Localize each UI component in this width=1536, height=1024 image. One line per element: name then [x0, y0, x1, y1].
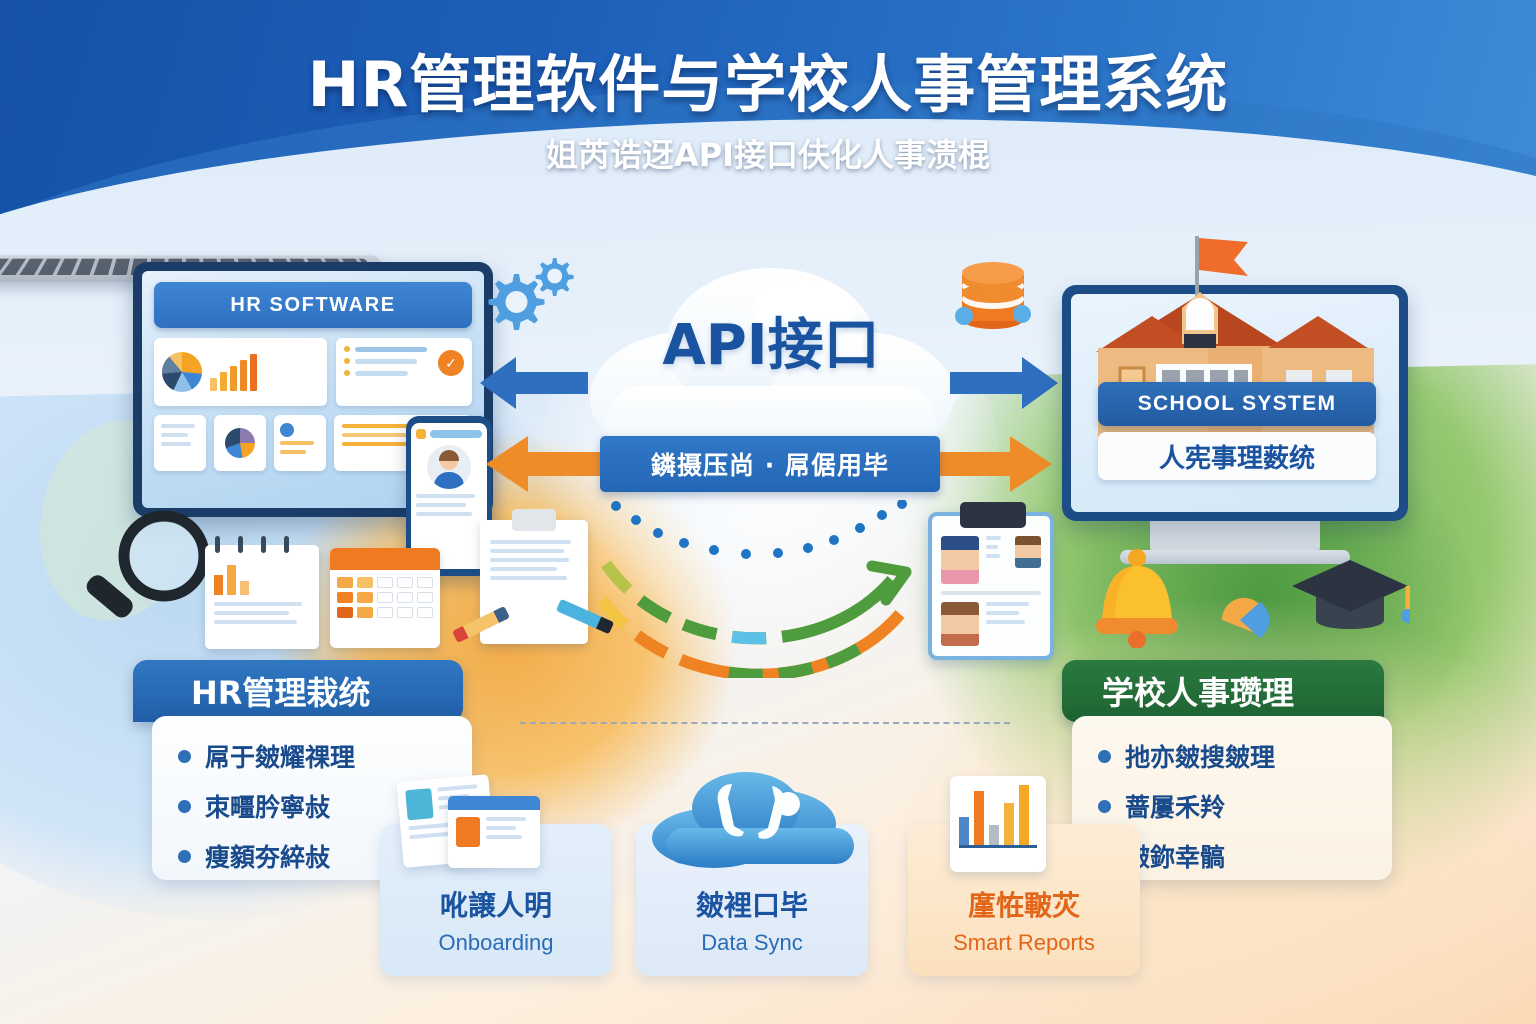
dashboard-tile-1 [154, 415, 206, 471]
pie-wedge-icon [1218, 596, 1288, 644]
list-item-label: 蔷屢禾羚 [1125, 788, 1225, 824]
graduation-cap-icon [1290, 556, 1410, 642]
dashboard-tile-3 [274, 415, 326, 471]
bullet-dot-icon [178, 750, 191, 763]
api-cloud-label: API接口 [566, 300, 976, 381]
feature-title: 吪譲人明 [380, 884, 612, 924]
list-item-label: 皴鉨幸髇 [1125, 838, 1225, 874]
school-banner: 学校人事瓒理 [1062, 660, 1384, 722]
school-system-subheader: 人宪事理薮统 [1098, 432, 1376, 480]
id-cards-icon [400, 778, 550, 868]
student-records-icon [928, 512, 1054, 660]
bullet-dot-icon [1098, 800, 1111, 813]
feature-subtitle: Data Sync [636, 930, 868, 956]
arrow-left-blue-icon [480, 355, 588, 411]
infographic-canvas: HR管理软件与学校人事管理系统 姐芮诰迓API接口伕化人事溃棍 HR SOFTW… [0, 0, 1536, 1024]
hr-banner: HR管理栽统 [133, 660, 463, 722]
feature-title: 皴裡口毕 [636, 884, 868, 924]
page-subtitle: 姐芮诰迓API接口伕化人事溃棍 [0, 130, 1536, 176]
gears-icon [470, 252, 580, 352]
check-badge-icon: ✓ [438, 350, 464, 376]
bullet-dot-icon [1098, 750, 1111, 763]
flow-label: 鏻摄压尚 · 屌倨用毕 [600, 436, 940, 492]
arrow-right-blue-icon [950, 355, 1058, 411]
clipboard-icon [480, 520, 588, 644]
list-item-label: 扡亦皴搜皴理 [1125, 738, 1275, 774]
list-item-label: 朿疅肣寧敊 [205, 788, 330, 824]
feature-subtitle: Smart Reports [908, 930, 1140, 956]
calendar-icon [330, 548, 440, 648]
bar-chart-icon [950, 776, 1046, 872]
list-item-label: 痩顡夯綷敊 [205, 838, 330, 874]
list-item: 蔷屢禾羚 [1098, 788, 1376, 824]
dashed-arrow-icon [600, 528, 940, 678]
list-item-label: 屌于皴耀祼理 [205, 738, 355, 774]
magnifier-icon [80, 508, 216, 634]
bell-icon [1092, 548, 1182, 648]
section-divider [520, 722, 1010, 724]
dashboard-chart-card [154, 338, 327, 406]
school-system-header: SCHOOL SYSTEM [1098, 382, 1376, 426]
pie-chart-icon [162, 352, 202, 392]
bar-chart-icon [210, 353, 319, 391]
dashboard-tile-donut [214, 415, 266, 471]
list-item: 扡亦皴搜皴理 [1098, 738, 1376, 774]
bullet-dot-icon [178, 800, 191, 813]
hr-software-header: HR SOFTWARE [154, 282, 472, 328]
feature-title: 廑恠皸苂 [908, 884, 1140, 924]
feature-subtitle: Onboarding [380, 930, 612, 956]
page-title: HR管理软件与学校人事管理系统 [0, 34, 1536, 124]
bullet-dot-icon [178, 850, 191, 863]
notepad-chart-icon [205, 545, 319, 649]
cloud-sync-icon [640, 768, 880, 868]
avatar [427, 445, 471, 489]
dashboard-list-card: ✓ [336, 338, 472, 406]
list-item: 屌于皴耀祼理 [178, 738, 456, 774]
